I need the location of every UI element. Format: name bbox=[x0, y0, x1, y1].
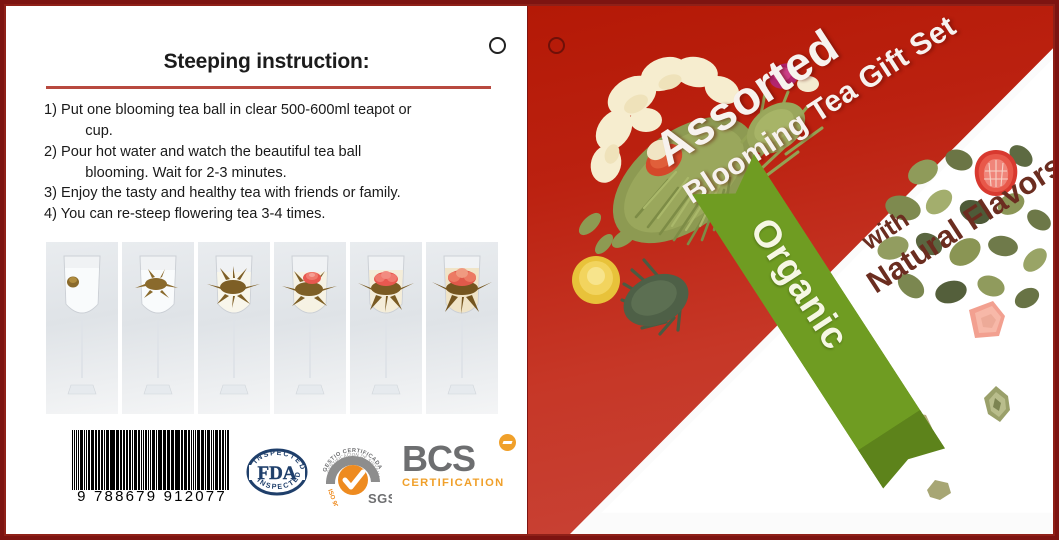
barcode-number: 9 788679 912077 bbox=[68, 488, 236, 505]
fda-inspected-icon: FDA INSPECTED INSPECTED bbox=[246, 441, 308, 503]
sgs-iso-certification-icon: GESTIO CERTIFICADA CERTIFICACION DE SIST… bbox=[318, 438, 392, 506]
certification-logos: FDA INSPECTED INSPECTED bbox=[246, 436, 511, 508]
barcode: 9 788679 912077 bbox=[72, 430, 232, 510]
steeping-steps-list: 1) Put one blooming tea ball in clear 50… bbox=[44, 100, 504, 225]
svg-text:SGS: SGS bbox=[368, 491, 392, 506]
product-headline: Assorted Blooming Tea Gift Set bbox=[646, 6, 961, 209]
page-title: Steeping instruction: bbox=[6, 50, 527, 74]
blooming-stage-photo-4 bbox=[274, 242, 346, 414]
wine-glass-icon bbox=[274, 242, 346, 414]
right-branding-panel: Assorted Blooming Tea Gift Set Organic w… bbox=[528, 6, 1053, 534]
product-label: Steeping instruction: 1) Put one bloomin… bbox=[0, 0, 1059, 540]
headline-assorted: Assorted bbox=[646, 6, 938, 173]
hanging-hole-right-icon bbox=[548, 37, 565, 54]
list-item: 3) Enjoy the tasty and healthy tea with … bbox=[44, 183, 504, 204]
bcs-wordmark: BCS bbox=[402, 442, 512, 476]
wine-glass-icon bbox=[198, 242, 270, 414]
wine-glass-icon bbox=[426, 242, 498, 414]
wine-glass-icon bbox=[46, 242, 118, 414]
blooming-sequence-photos bbox=[46, 242, 498, 414]
blooming-stage-photo-6 bbox=[426, 242, 498, 414]
bcs-subtitle: CERTIFICATION bbox=[402, 477, 512, 489]
list-item: 1) Put one blooming tea ball in clear 50… bbox=[44, 100, 504, 142]
left-instruction-panel: Steeping instruction: 1) Put one bloomin… bbox=[6, 6, 527, 534]
title-divider bbox=[46, 86, 491, 89]
list-item: 4) You can re-steep flowering tea 3-4 ti… bbox=[44, 204, 504, 225]
barcode-bars bbox=[72, 430, 232, 490]
blooming-stage-photo-5 bbox=[350, 242, 422, 414]
blooming-stage-photo-1 bbox=[46, 242, 118, 414]
list-item: 2) Pour hot water and watch the beautifu… bbox=[44, 142, 504, 184]
blooming-stage-photo-2 bbox=[122, 242, 194, 414]
wine-glass-icon bbox=[350, 242, 422, 414]
wine-glass-icon bbox=[122, 242, 194, 414]
blooming-stage-photo-3 bbox=[198, 242, 270, 414]
bcs-symbol-icon bbox=[499, 434, 516, 451]
bcs-certification-icon: BCS CERTIFICATION bbox=[402, 442, 512, 502]
